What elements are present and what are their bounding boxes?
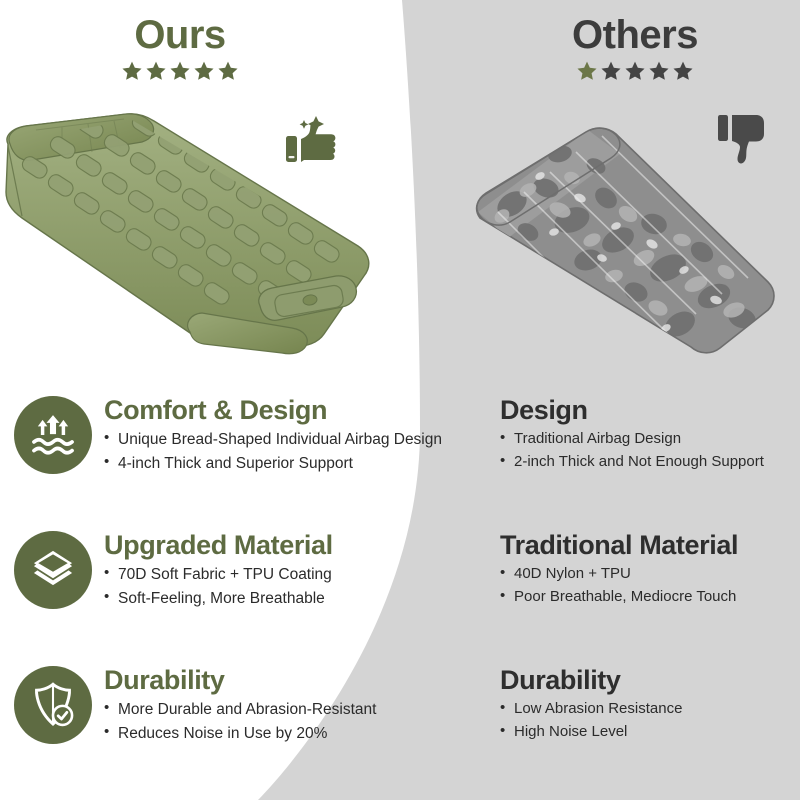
feature-durability: Durability More Durable and Abrasion-Res…	[0, 666, 470, 786]
feature-title: Traditional Material	[500, 531, 800, 560]
list-item: 70D Soft Fabric + TPU Coating	[104, 563, 470, 587]
list-item: Traditional Airbag Design	[500, 428, 800, 451]
list-item: Reduces Noise in Use by 20%	[104, 722, 470, 746]
ours-header: Ours	[0, 14, 360, 82]
thumbs-up-icon	[282, 108, 344, 170]
list-item: More Durable and Abrasion-Resistant	[104, 698, 470, 722]
feature-bullet-list: 70D Soft Fabric + TPU Coating Soft-Feeli…	[104, 563, 470, 610]
list-item: 2-inch Thick and Not Enough Support	[500, 451, 800, 474]
feature-text-block: Traditional Material 40D Nylon + TPU Poo…	[500, 531, 800, 609]
feature-bullet-list: Traditional Airbag Design 2-inch Thick a…	[500, 428, 800, 474]
ours-star-rating	[0, 60, 360, 82]
feature-bullet-list: 40D Nylon + TPU Poor Breathable, Mediocr…	[500, 563, 800, 609]
others-star-rating	[470, 60, 800, 82]
star-icon-filled	[121, 60, 143, 82]
feature-traditional-material: Traditional Material 40D Nylon + TPU Poo…	[500, 531, 800, 651]
feature-comfort-design: Comfort & Design Unique Bread-Shaped Ind…	[0, 396, 470, 516]
list-item: Unique Bread-Shaped Individual Airbag De…	[104, 428, 470, 452]
list-item: Soft-Feeling, More Breathable	[104, 587, 470, 611]
star-icon-filled	[193, 60, 215, 82]
feature-title: Upgraded Material	[104, 531, 470, 560]
comparison-infographic: Ours	[0, 0, 800, 800]
feature-title: Design	[500, 396, 800, 425]
feature-text-block: Upgraded Material 70D Soft Fabric + TPU …	[104, 531, 470, 610]
star-icon-filled	[145, 60, 167, 82]
star-icon-filled	[576, 60, 598, 82]
feature-text-block: Durability Low Abrasion Resistance High …	[500, 666, 800, 744]
list-item: 40D Nylon + TPU	[500, 563, 800, 586]
feature-text-block: Durability More Durable and Abrasion-Res…	[104, 666, 470, 745]
thumbs-down-icon	[716, 112, 768, 170]
others-header: Others	[470, 14, 800, 82]
feature-bullet-list: Unique Bread-Shaped Individual Airbag De…	[104, 428, 470, 475]
star-icon-filled	[169, 60, 191, 82]
ours-title: Ours	[0, 14, 360, 56]
list-item: 4-inch Thick and Superior Support	[104, 452, 470, 476]
star-icon-empty	[648, 60, 670, 82]
feature-bullet-list: More Durable and Abrasion-Resistant Redu…	[104, 698, 470, 745]
feature-design: Design Traditional Airbag Design 2-inch …	[500, 396, 800, 516]
shield-check-icon	[14, 666, 92, 744]
feature-title: Durability	[500, 666, 800, 695]
star-icon-empty	[672, 60, 694, 82]
arrows-up-over-waves-icon	[14, 396, 92, 474]
layers-stack-icon	[14, 531, 92, 609]
feature-title: Durability	[104, 666, 470, 695]
star-icon-filled	[217, 60, 239, 82]
ours-product-image	[0, 100, 412, 365]
star-icon-empty	[624, 60, 646, 82]
feature-text-block: Comfort & Design Unique Bread-Shaped Ind…	[104, 396, 470, 475]
ours-column: Ours	[0, 0, 470, 800]
feature-upgraded-material: Upgraded Material 70D Soft Fabric + TPU …	[0, 531, 470, 651]
list-item: Poor Breathable, Mediocre Touch	[500, 586, 800, 609]
list-item: Low Abrasion Resistance	[500, 698, 800, 721]
feature-title: Comfort & Design	[104, 396, 470, 425]
feature-bullet-list: Low Abrasion Resistance High Noise Level	[500, 698, 800, 744]
others-title: Others	[470, 14, 800, 56]
star-icon-empty	[600, 60, 622, 82]
feature-durability-others: Durability Low Abrasion Resistance High …	[500, 666, 800, 786]
feature-text-block: Design Traditional Airbag Design 2-inch …	[500, 396, 800, 474]
list-item: High Noise Level	[500, 721, 800, 744]
